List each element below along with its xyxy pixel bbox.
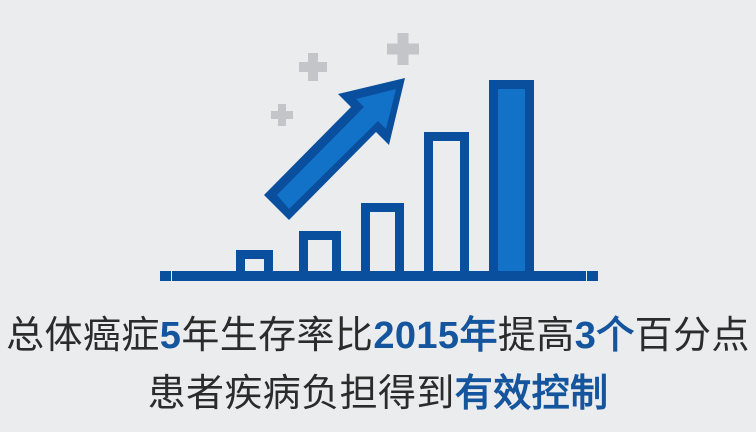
infographic-root: 总体癌症5年生存率比2015年提高3个百分点 患者疾病负担得到有效控制 xyxy=(0,0,756,432)
upward-trend-arrow-icon xyxy=(264,78,405,220)
bar-2 xyxy=(299,231,341,271)
caption-l1-seg-4: 2015年 xyxy=(373,315,498,357)
caption-region: 总体癌症5年生存率比2015年提高3个百分点 患者疾病负担得到有效控制 xyxy=(0,300,756,432)
bar-4 xyxy=(424,132,469,271)
caption-l1-seg-5: 提高 xyxy=(498,315,575,357)
caption-l1-seg-1: 总体癌症 xyxy=(6,315,160,357)
caption-l2-seg-2: 有效控制 xyxy=(455,373,609,415)
caption-line-2: 患者疾病负担得到有效控制 xyxy=(0,375,756,413)
caption-l1-seg-2: 5 xyxy=(160,315,182,357)
bar-3 xyxy=(361,203,404,271)
caption-l1-seg-7: 百分点 xyxy=(635,315,750,357)
baseline-dash-right-icon xyxy=(587,271,598,281)
bar-5 xyxy=(489,80,534,271)
plus-small-icon xyxy=(271,104,293,126)
caption-l2-seg-1: 患者疾病负担得到 xyxy=(148,373,455,415)
plus-large-icon xyxy=(387,33,419,65)
baseline-rule xyxy=(172,271,586,281)
caption-l1-seg-6: 3个 xyxy=(575,315,635,357)
baseline-dash-left-icon xyxy=(160,271,171,281)
plus-medium-icon xyxy=(299,53,327,81)
caption-line-1: 总体癌症5年生存率比2015年提高3个百分点 xyxy=(0,317,756,355)
caption-l1-seg-3: 年生存率比 xyxy=(181,315,373,357)
illustration-region xyxy=(0,0,756,300)
bar-1 xyxy=(236,250,273,271)
growth-chart-illustration xyxy=(0,0,756,300)
